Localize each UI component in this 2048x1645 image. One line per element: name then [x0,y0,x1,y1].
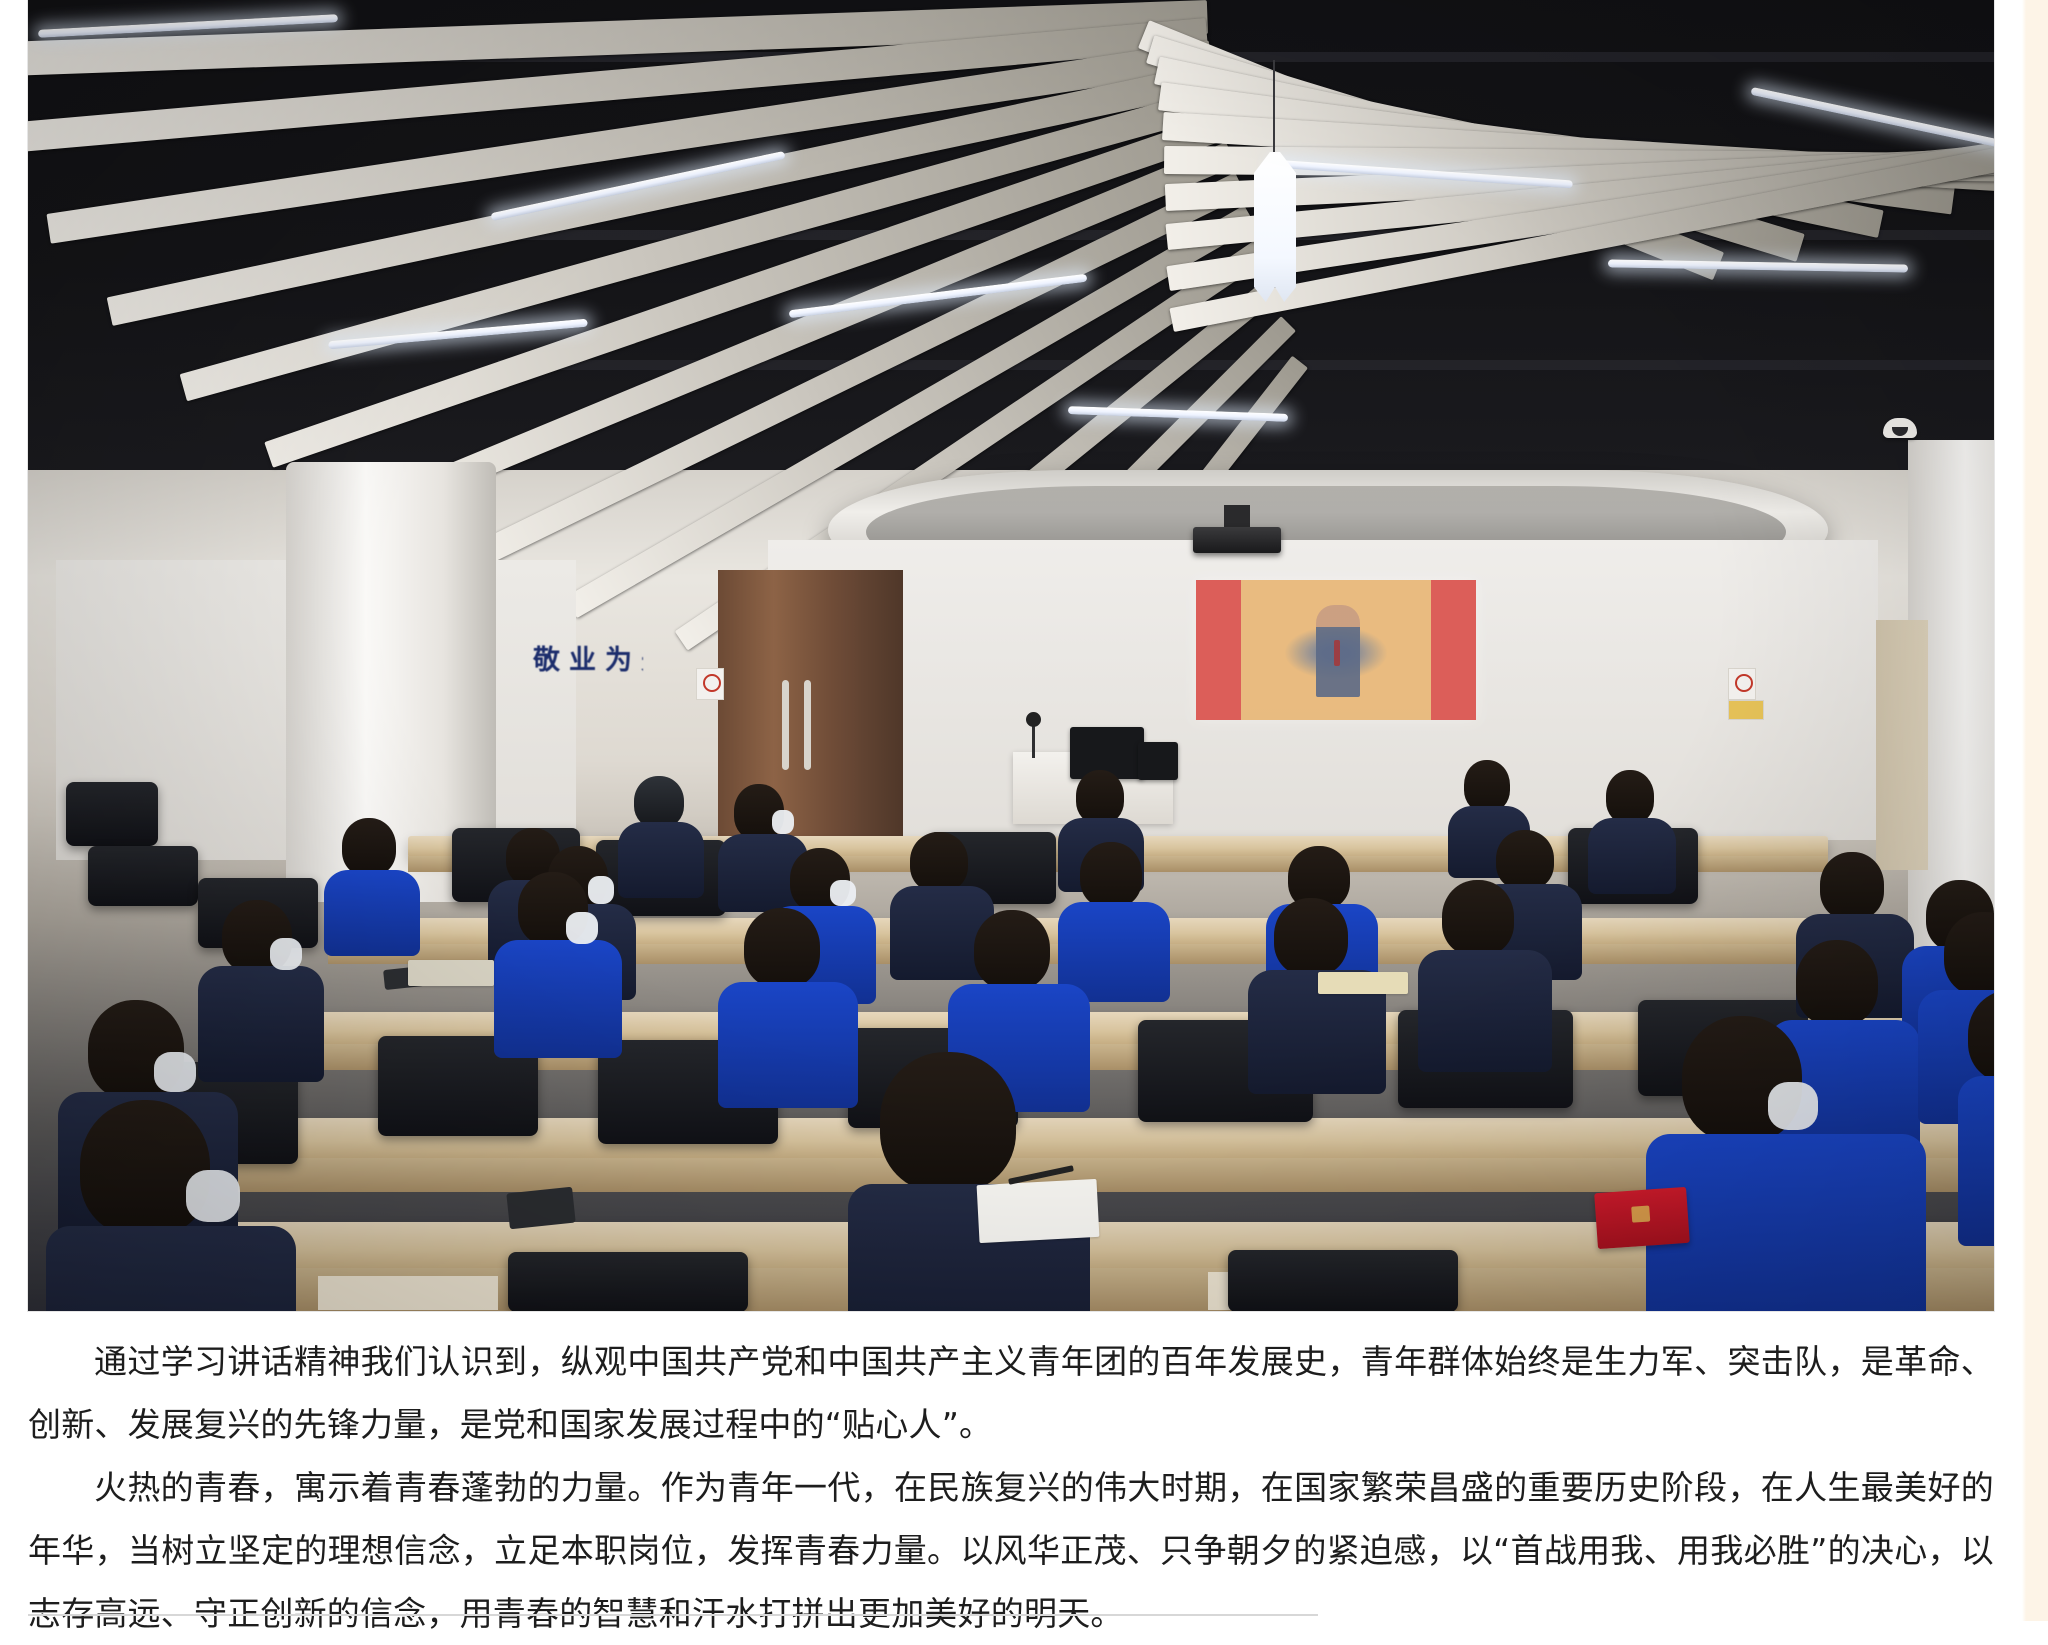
attendee-head [1274,898,1348,976]
face-mask [1768,1082,1818,1130]
article-page: 敬业为先 [0,0,2022,1621]
desk-shelf [318,1276,498,1310]
pendant-light [1254,152,1296,302]
attendee-head [1820,852,1884,920]
notebook [408,960,494,986]
smartphone [506,1187,575,1230]
no-smoking-sign [1728,668,1756,700]
page-edge-gradient [2022,0,2026,1621]
attendee-body [618,822,704,898]
paragraph-2: 火热的青春，寓示着青春蓬勃的力量。作为青年一代，在民族复兴的伟大时期，在国家繁荣… [28,1456,1994,1645]
screen-speaker-tie [1334,640,1340,666]
face-mask [270,938,302,970]
attendee-body [1958,1076,1994,1246]
no-smoking-sign [696,668,724,700]
notebook-paper [977,1179,1100,1243]
chair [508,1252,748,1311]
notebook [1318,972,1408,994]
microphone-stem [1032,722,1035,758]
attendee-head [1496,830,1554,890]
face-mask [186,1170,240,1222]
no-smoking-icon [1735,674,1753,692]
projector [1193,527,1281,553]
meeting-photo: 敬业为先 [28,0,1994,1311]
bottom-divider [28,1614,1318,1616]
attendee-body [718,982,858,1108]
attendee-body [324,870,420,956]
attendee-head [880,1052,1016,1192]
attendee-head [744,908,820,988]
article-body: 通过学习讲话精神我们认识到，纵观中国共产党和中国共产主义青年团的百年发展史，青年… [28,1330,1994,1645]
attendee-body [1418,950,1552,1072]
face-mask [566,912,598,944]
door-handle [782,680,789,770]
attendee-head [342,818,396,876]
attendee-head [1606,770,1654,824]
pendant-light-wire [1273,60,1275,155]
chair [1228,1250,1458,1311]
wall-notice [1728,700,1764,720]
face-mask [588,876,614,904]
attendee-head [80,1100,210,1236]
attendee-body [198,966,324,1082]
attendee-body [46,1226,296,1311]
door-handle [804,680,811,770]
paragraph-1: 通过学习讲话精神我们认识到，纵观中国共产党和中国共产主义青年团的百年发展史，青年… [28,1330,1994,1456]
attendee-head [1442,880,1514,956]
dome-camera-icon [1883,418,1917,438]
attendee-head [1080,842,1142,908]
attendee-head [1076,770,1124,824]
attendee-head [910,832,968,892]
side-door [1876,620,1928,870]
podium-secondary-monitor [1138,742,1178,780]
attendee-head [1796,940,1878,1026]
chair [66,782,158,846]
wall-slogan: 敬业为先 [533,638,643,677]
projector-mount [1224,505,1250,529]
page-right-margin [2022,0,2048,1621]
photo-canvas: 敬业为先 [28,0,1994,1311]
no-smoking-icon [703,674,721,692]
microphone-icon [1026,712,1041,727]
face-mask [830,880,856,906]
attendee-head [1464,760,1510,812]
attendee-head [974,910,1050,990]
attendee-head [634,776,684,828]
attendee-body [1588,818,1676,894]
chair [88,846,198,906]
red-booklet [1594,1187,1690,1249]
face-mask [154,1052,196,1092]
face-mask [772,810,794,834]
attendee-body [494,940,622,1058]
